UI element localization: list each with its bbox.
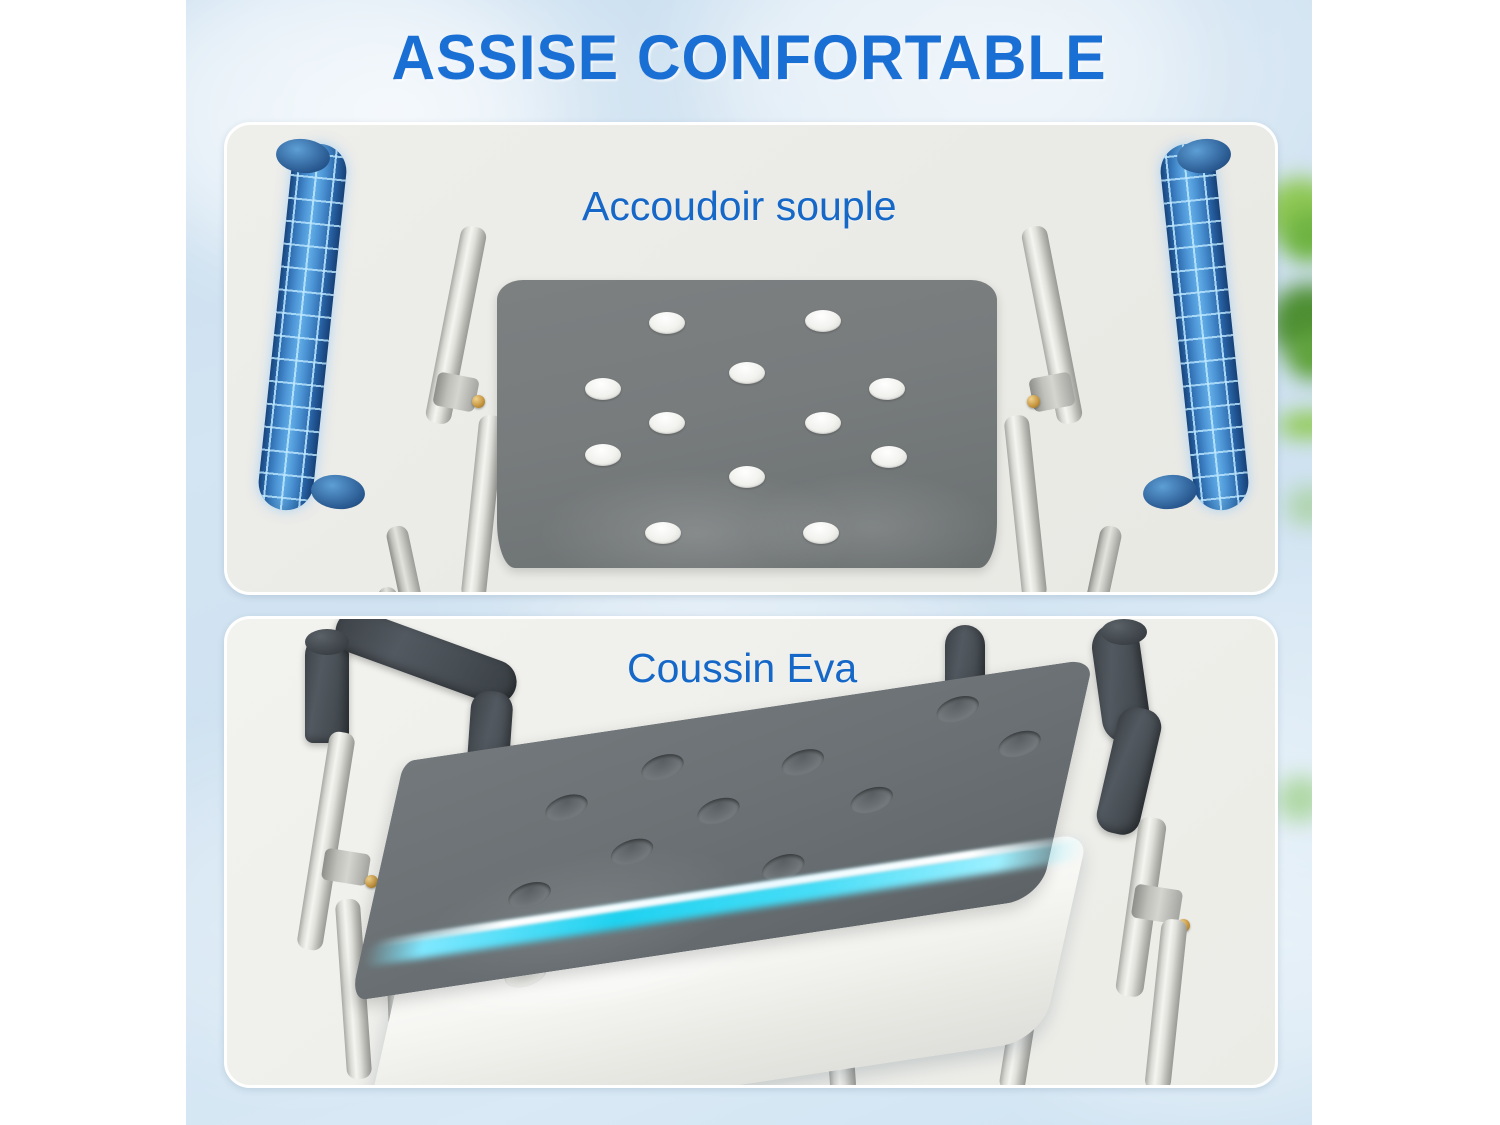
product-marketing-image: ASSISE CONFORTABLE xyxy=(0,0,1500,1125)
background-stage: ASSISE CONFORTABLE xyxy=(186,0,1312,1125)
cushion-drain-hole xyxy=(934,693,982,725)
cushion-drain-hole xyxy=(996,728,1044,760)
foliage-leaf-icon xyxy=(1282,210,1312,262)
seat-drain-hole xyxy=(803,522,839,544)
frame-tube-left-leg xyxy=(385,524,431,595)
seat-drain-hole xyxy=(585,444,621,466)
frame-tube-right-lower-2 xyxy=(1144,918,1188,1088)
armrest-cap-left xyxy=(305,629,349,655)
cushion-drain-hole xyxy=(608,836,656,868)
cushion-drain-hole xyxy=(695,795,743,827)
seat-drain-hole xyxy=(649,312,685,334)
cushion-drain-hole xyxy=(543,792,591,824)
armrest-cap-right xyxy=(1101,619,1147,645)
seat-cushion-top-view xyxy=(497,280,997,568)
seat-drain-hole xyxy=(805,310,841,332)
seat-drain-hole xyxy=(805,412,841,434)
frame-tube-right-leg xyxy=(1077,524,1123,595)
seat-drain-hole xyxy=(729,362,765,384)
cushion-drain-hole xyxy=(506,879,554,911)
armrest-pad-right-cap-bottom xyxy=(1141,472,1198,511)
armrest-pad-left-cap-bottom xyxy=(309,472,366,511)
page-title: ASSISE CONFORTABLE xyxy=(209,22,1290,94)
seat-drain-hole xyxy=(729,466,765,488)
foliage-leaf-icon xyxy=(1276,776,1312,822)
foliage-leaf-icon xyxy=(1286,486,1312,526)
cushion-drain-hole xyxy=(779,746,827,778)
armrest-pad-right xyxy=(1158,141,1251,513)
feature-panel-armrest: Accoudoir souple xyxy=(224,122,1278,595)
foliage-leaf-icon xyxy=(1278,412,1312,438)
seat-drain-hole xyxy=(645,522,681,544)
cushion-drain-hole xyxy=(639,751,687,783)
foliage-leaf-icon xyxy=(1288,330,1312,380)
frame-collar-right-2 xyxy=(1131,883,1184,924)
cushion-drain-hole xyxy=(848,784,896,816)
frame-tube-right-lower xyxy=(1003,414,1047,595)
brass-knob-left xyxy=(472,395,485,408)
brass-knob-right xyxy=(1027,395,1040,408)
armrest-pad-left xyxy=(256,141,349,513)
seat-drain-hole xyxy=(871,446,907,468)
panel-label-cushion: Coussin Eva xyxy=(627,645,857,692)
panel-label-armrest: Accoudoir souple xyxy=(582,183,897,230)
seat-drain-hole xyxy=(649,412,685,434)
feature-panel-cushion: Coussin Eva xyxy=(224,616,1278,1088)
seat-drain-hole xyxy=(869,378,905,400)
seat-drain-hole xyxy=(585,378,621,400)
